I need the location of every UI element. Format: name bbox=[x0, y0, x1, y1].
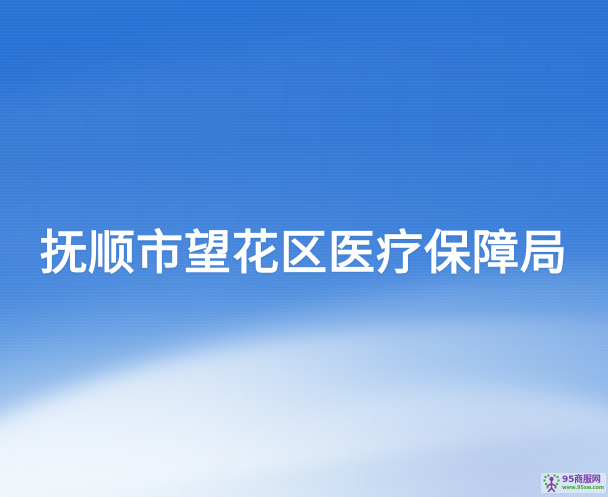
banner-title-container: 抚顺市望花区医疗保障局 bbox=[0, 222, 608, 284]
wave-floor-wash bbox=[0, 404, 608, 497]
watermark-brand: 95商服网 bbox=[562, 476, 604, 485]
watermark: 95商服网 www.95sw.com bbox=[541, 473, 606, 493]
site-banner: 抚顺市望花区医疗保障局 95商服网 www.95sw.com bbox=[0, 0, 608, 497]
watermark-text: 95商服网 www.95sw.com bbox=[562, 476, 604, 491]
page-title: 抚顺市望花区医疗保障局 bbox=[40, 230, 568, 277]
person-figure-icon bbox=[543, 474, 560, 492]
wave-crest-line bbox=[0, 272, 608, 497]
watermark-url: www.95sw.com bbox=[562, 486, 604, 491]
wave-main-mass bbox=[0, 151, 608, 497]
corner-violet-tint bbox=[288, 297, 608, 497]
